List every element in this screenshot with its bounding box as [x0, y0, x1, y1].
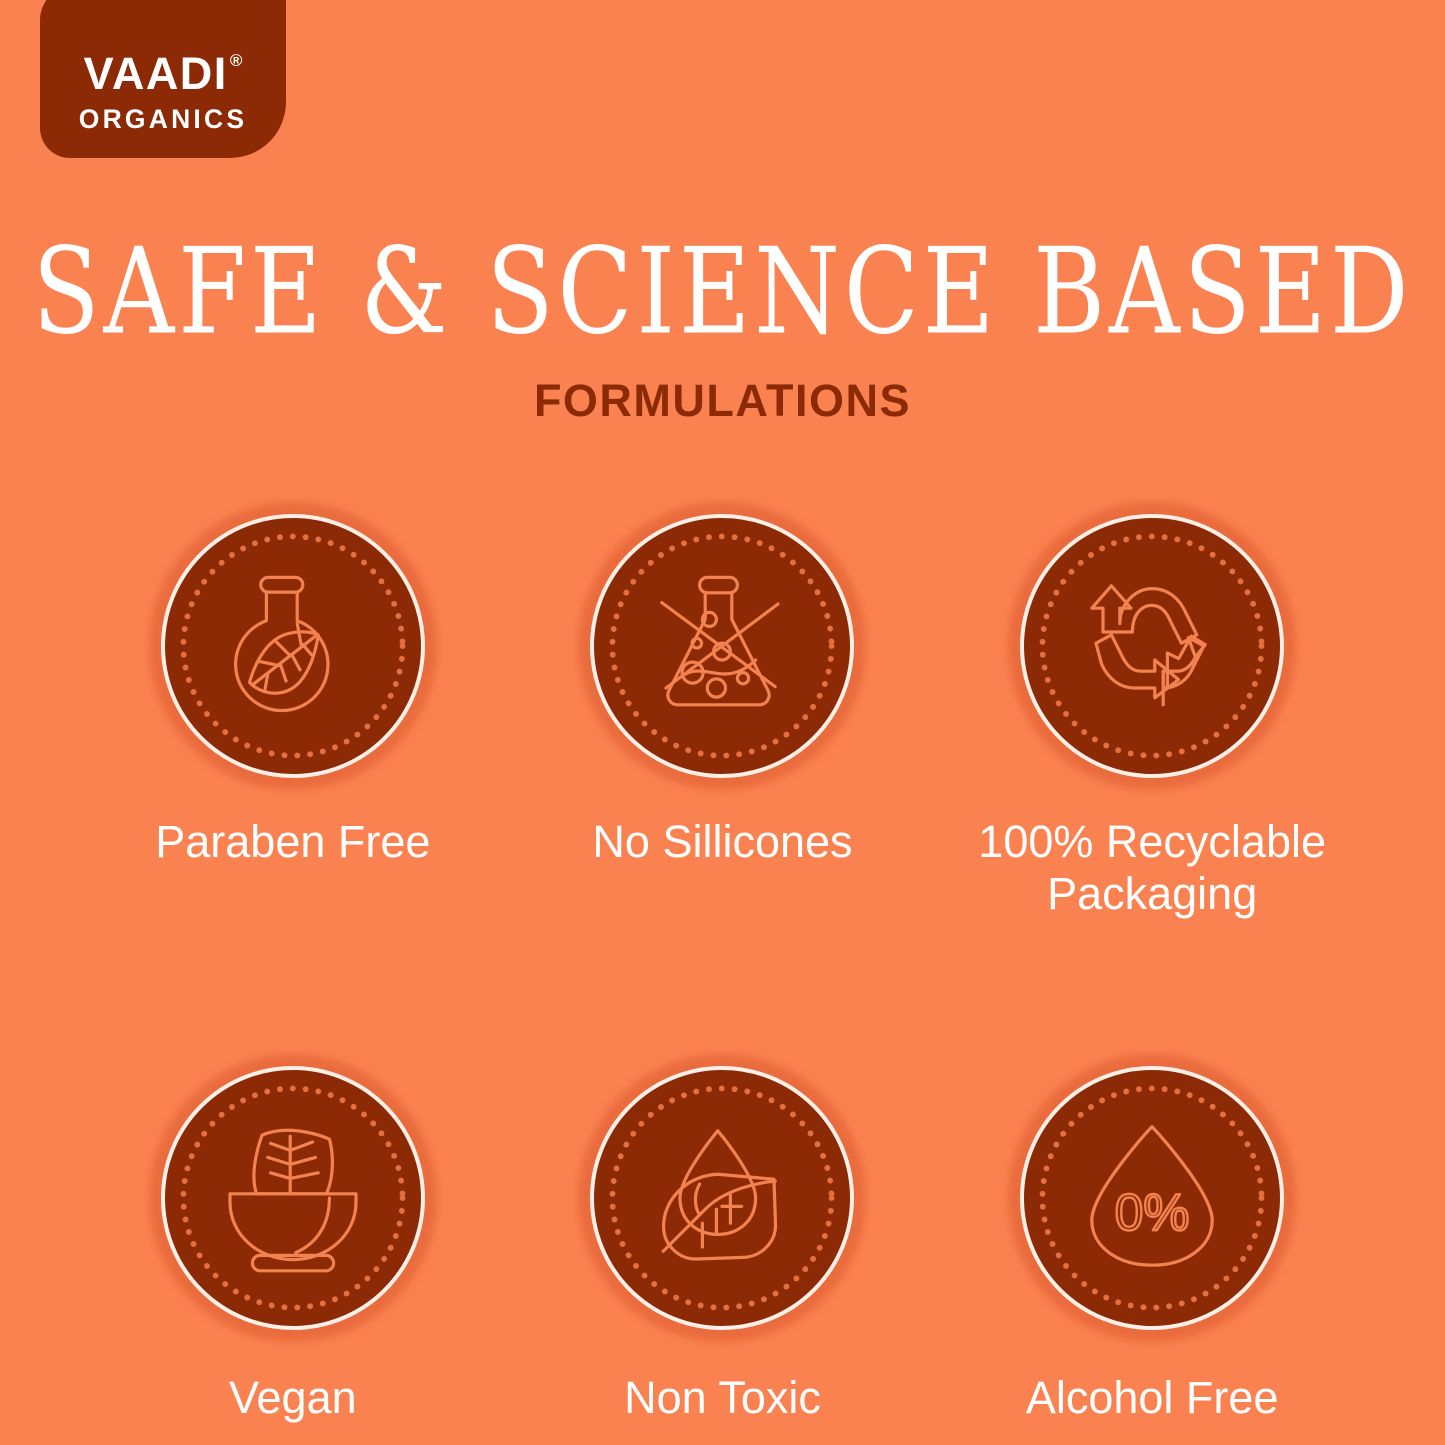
- badge-recyclable-packaging: [1004, 498, 1300, 794]
- feature-label: Alcohol Free: [1026, 1372, 1279, 1424]
- feature-label: Non Toxic: [624, 1372, 821, 1424]
- brand-name: VAADI: [84, 51, 228, 96]
- feature-label: Paraben Free: [155, 816, 430, 868]
- registered-trademark-icon: ®: [230, 52, 243, 69]
- badge-vegan: [145, 1050, 441, 1346]
- droplet-zero-percent-icon: 0%: [1068, 1114, 1236, 1282]
- feature-item-no-sillicones: No Sillicones: [508, 498, 938, 920]
- badge-paraben-free: [145, 498, 441, 794]
- crossed-out-erlenmeyer-flask-icon: [638, 562, 806, 730]
- badge-no-sillicones: [574, 498, 870, 794]
- badge-disc: 0%: [1020, 1066, 1284, 1330]
- badge-disc: [161, 514, 425, 778]
- poster-canvas: VAADI ® ORGANICS SAFE & SCIENCE BASED FO…: [0, 0, 1445, 1445]
- feature-label: No Sillicones: [592, 816, 852, 868]
- brand-tagline: ORGANICS: [79, 106, 247, 133]
- badge-disc: [590, 1066, 854, 1330]
- droplet-leaf-icon: [638, 1114, 806, 1282]
- badge-disc: [1020, 514, 1284, 778]
- mortar-bowl-leaf-icon: [209, 1114, 377, 1282]
- badge-non-toxic: [574, 1050, 870, 1346]
- feature-label: Vegan: [229, 1372, 357, 1424]
- feature-item-recyclable-packaging: 100% Recyclable Packaging: [937, 498, 1367, 920]
- brand-logo: VAADI ® ORGANICS: [40, 0, 286, 158]
- badge-disc: [590, 514, 854, 778]
- feature-item-non-toxic: Non Toxic: [508, 1050, 938, 1424]
- badge-alcohol-free: 0%: [1004, 1050, 1300, 1346]
- feature-item-alcohol-free: 0% Alcohol Free: [937, 1050, 1367, 1424]
- page-title: SAFE & SCIENCE BASED: [22, 232, 1424, 351]
- badge-disc: [161, 1066, 425, 1330]
- feature-item-vegan: Vegan: [78, 1050, 508, 1424]
- feature-label: 100% Recyclable Packaging: [952, 816, 1352, 920]
- recycle-arrows-icon: [1068, 562, 1236, 730]
- round-flask-leaf-icon: [209, 562, 377, 730]
- feature-grid: Paraben Free: [78, 498, 1367, 1425]
- feature-item-paraben-free: Paraben Free: [78, 498, 508, 920]
- brand-name-row: VAADI ®: [84, 51, 243, 96]
- page-subtitle: FORMULATIONS: [0, 378, 1445, 423]
- zero-percent-text: 0%: [1115, 1184, 1190, 1242]
